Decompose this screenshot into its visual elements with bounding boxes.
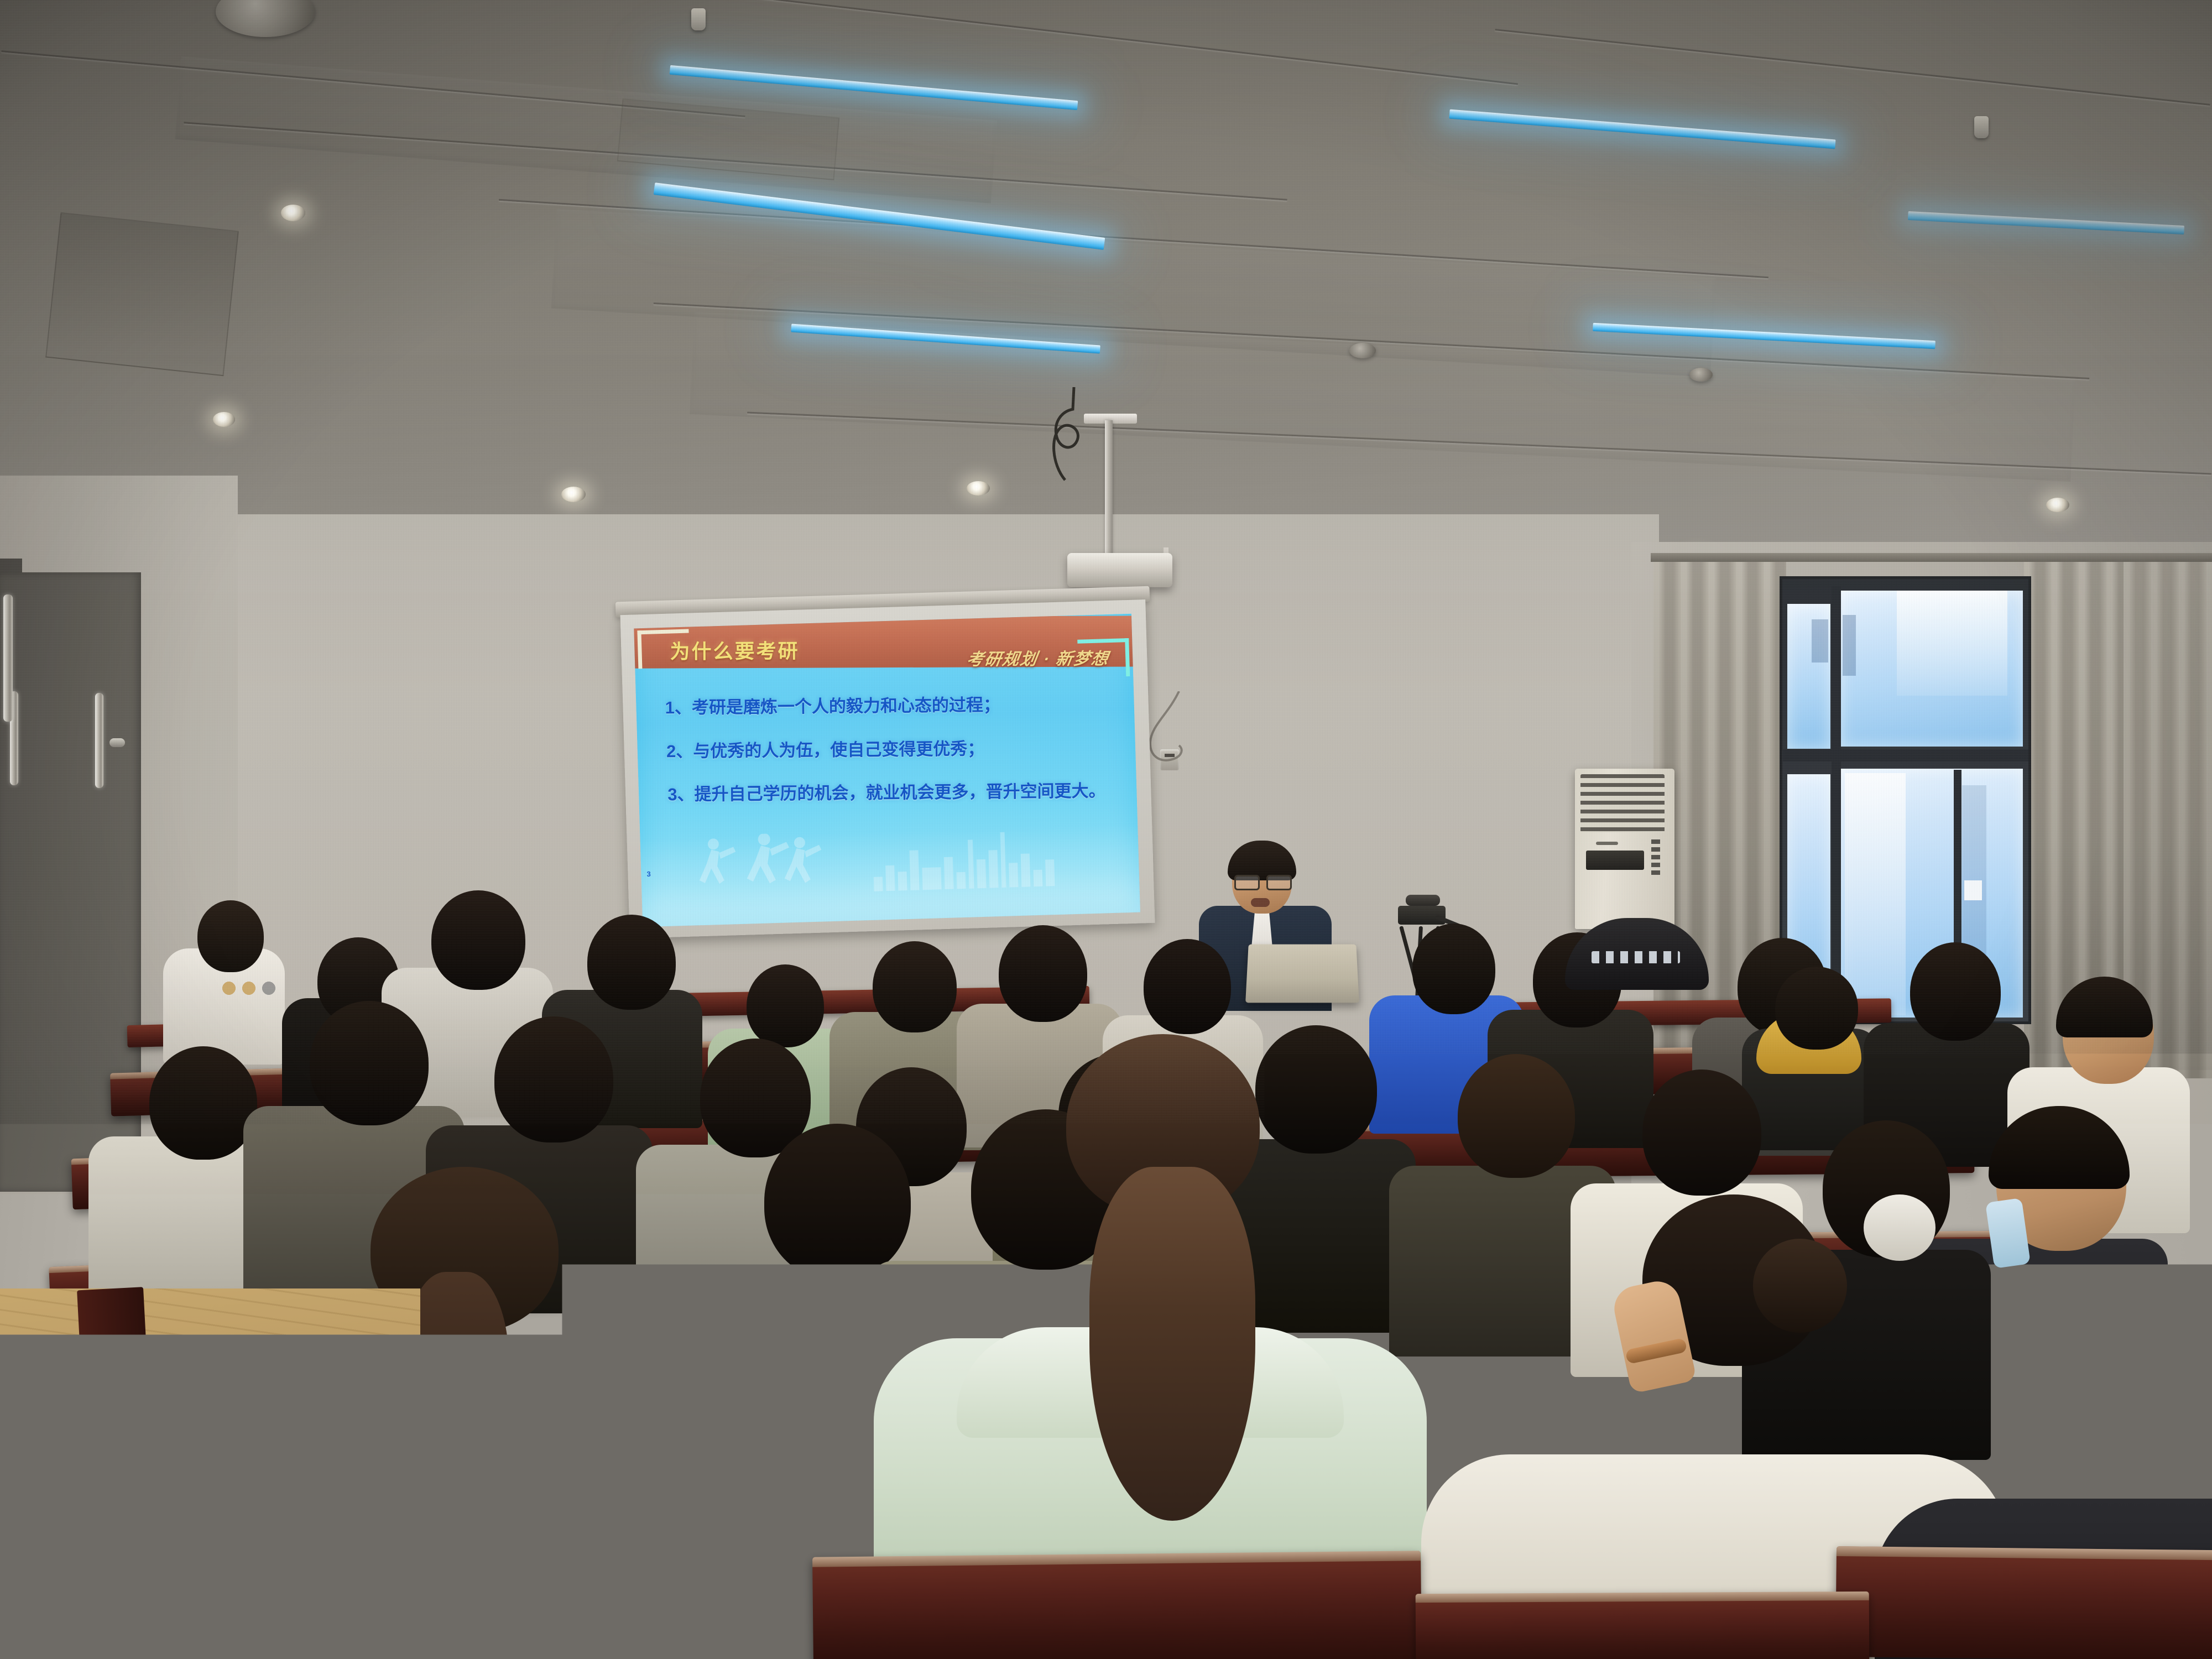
lecture-bench-row-1 — [1416, 1592, 1870, 1659]
presenter-laptop[interactable] — [1245, 945, 1359, 1003]
slide-page-number: 3 — [646, 870, 651, 878]
window-mullion-horizontal — [1783, 749, 2028, 761]
ac-grille — [1580, 774, 1665, 832]
cap-logo-text — [1592, 951, 1680, 963]
slide-bullet-3: 3、提升自己学历的机会，就业机会更多，晋升空间更大。 — [667, 782, 1121, 804]
slide-bullet-2: 2、与优秀的人为伍，使自己变得更优秀； — [666, 739, 1120, 761]
ac-brand-logo — [1651, 839, 1660, 878]
person-hair — [1642, 1070, 1761, 1196]
person-hair — [1775, 967, 1858, 1050]
hanging-cable — [1040, 387, 1106, 525]
cat-print-graphic — [216, 976, 282, 1000]
projection-screen: 为什么要考研 考研规划 · 新梦想 1、考研是磨炼一个人的毅力和心态的过程； 2… — [620, 595, 1155, 942]
air-conditioner-unit[interactable] — [1575, 769, 1674, 929]
smoke-detector-icon — [1689, 368, 1713, 382]
ceiling-projector — [1067, 553, 1172, 587]
sprinkler-head — [691, 8, 706, 30]
hair-bun — [1864, 1194, 1936, 1261]
lecture-bench-row-1 — [812, 1551, 1422, 1659]
person-hair — [1144, 939, 1231, 1034]
person-hair — [999, 925, 1087, 1022]
person-hair — [197, 900, 264, 972]
lecture-hall-photo: 为什么要考研 考研规划 · 新梦想 1、考研是磨炼一个人的毅力和心态的过程； 2… — [0, 0, 2212, 1659]
door-handle[interactable] — [3, 594, 13, 722]
exterior-building — [1845, 773, 1906, 1015]
ac-indicator — [1596, 842, 1618, 845]
ceiling-downlight — [967, 481, 990, 495]
person-hair — [764, 1124, 911, 1280]
exterior-ac-box — [1964, 880, 1982, 900]
camera-viewfinder-icon — [1406, 895, 1440, 906]
person-hair — [494, 1016, 613, 1142]
ac-display-panel — [1586, 851, 1644, 870]
ceiling-downlight — [213, 412, 235, 427]
person-hair — [587, 915, 676, 1010]
ceiling-air-vent — [45, 212, 239, 376]
projector-mount-pole — [1105, 420, 1113, 559]
person-hair — [873, 941, 957, 1032]
lecture-bench-row-1 — [1835, 1546, 2212, 1659]
person-hair — [310, 1001, 429, 1125]
lecture-bench-row-1 — [153, 1533, 820, 1659]
slide-bullet-list: 1、考研是磨炼一个人的毅力和心态的过程； 2、与优秀的人为伍，使自己变得更优秀；… — [665, 691, 1122, 834]
person-hair — [1458, 1054, 1575, 1178]
slide-bullet-1: 1、考研是磨炼一个人的毅力和心态的过程； — [665, 695, 1119, 717]
exterior-window-row — [1812, 619, 1828, 662]
slide-bottom-glow — [640, 824, 1140, 927]
person-hair — [1910, 942, 2001, 1041]
presenter-mouth — [1251, 898, 1270, 907]
ceiling-downlight — [281, 205, 305, 221]
door-lock-icon — [109, 738, 125, 747]
window-mullion-vertical — [1832, 586, 1841, 1023]
door-handle[interactable] — [95, 693, 103, 788]
presentation-slide: 为什么要考研 考研规划 · 新梦想 1、考研是磨炼一个人的毅力和心态的过程； 2… — [634, 614, 1140, 927]
slide-title: 为什么要考研 — [670, 635, 799, 664]
presenter-glasses-icon — [1234, 875, 1290, 887]
slide-brand-logo: 考研规划 · 新梦想 — [966, 645, 1111, 670]
ceiling-downlight — [2046, 498, 2069, 512]
person-hair — [747, 964, 824, 1047]
hair-bun — [1753, 1239, 1847, 1333]
ceiling-downlight — [561, 487, 586, 502]
curtain-rail — [1651, 553, 2212, 562]
smoke-detector-icon — [1349, 343, 1376, 358]
person-hair — [1255, 1025, 1377, 1154]
exterior-window-row — [1962, 785, 1986, 968]
sprinkler-head — [1974, 116, 1989, 138]
ponytail — [1089, 1167, 1255, 1521]
person-hair — [149, 1046, 257, 1160]
exterior-window-row — [1843, 615, 1856, 676]
person-hair — [431, 890, 525, 990]
person-hair — [1412, 924, 1495, 1014]
screen-surface: 为什么要考研 考研规划 · 新梦想 1、考研是磨炼一个人的毅力和心态的过程； 2… — [620, 599, 1155, 938]
exterior-building — [1897, 591, 2007, 696]
